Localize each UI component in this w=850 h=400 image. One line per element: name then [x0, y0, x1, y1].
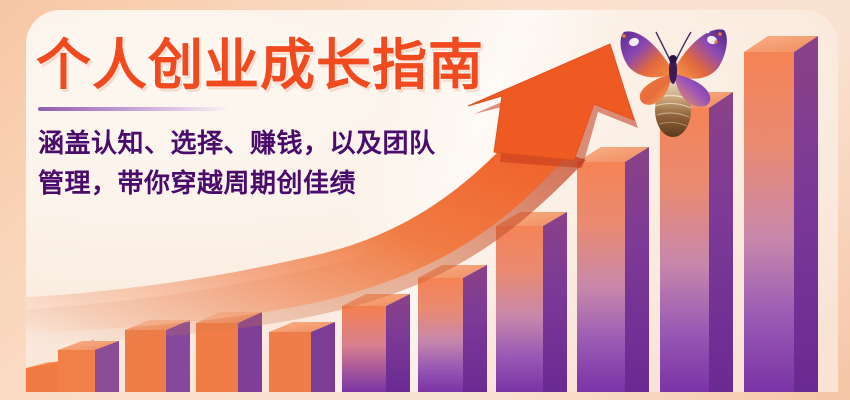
- bar-3: [125, 320, 190, 392]
- page-subtitle: 涵盖认知、选择、赚钱，以及团队 管理，带你穿越周期创佳绩: [38, 123, 578, 204]
- page-title: 个人创业成长指南: [36, 38, 632, 93]
- banner-root: 个人创业成长指南 涵盖认知、选择、赚钱，以及团队 管理，带你穿越周期创佳绩: [0, 0, 850, 400]
- title-underline: [38, 107, 230, 111]
- subtitle-line-1: 涵盖认知、选择、赚钱，以及团队: [38, 123, 578, 163]
- bar-4: [196, 312, 262, 392]
- bar-2: [58, 340, 119, 392]
- bar-11: [744, 36, 818, 392]
- bar-6: [342, 294, 410, 392]
- bar-5: [269, 322, 335, 392]
- text-block: 个人创业成长指南 涵盖认知、选择、赚钱，以及团队 管理，带你穿越周期创佳绩: [12, 38, 632, 204]
- bar-7: [418, 265, 487, 392]
- bar-8: [496, 212, 567, 392]
- subtitle-line-2: 管理，带你穿越周期创佳绩: [38, 163, 578, 203]
- butterfly-icon: [616, 18, 730, 140]
